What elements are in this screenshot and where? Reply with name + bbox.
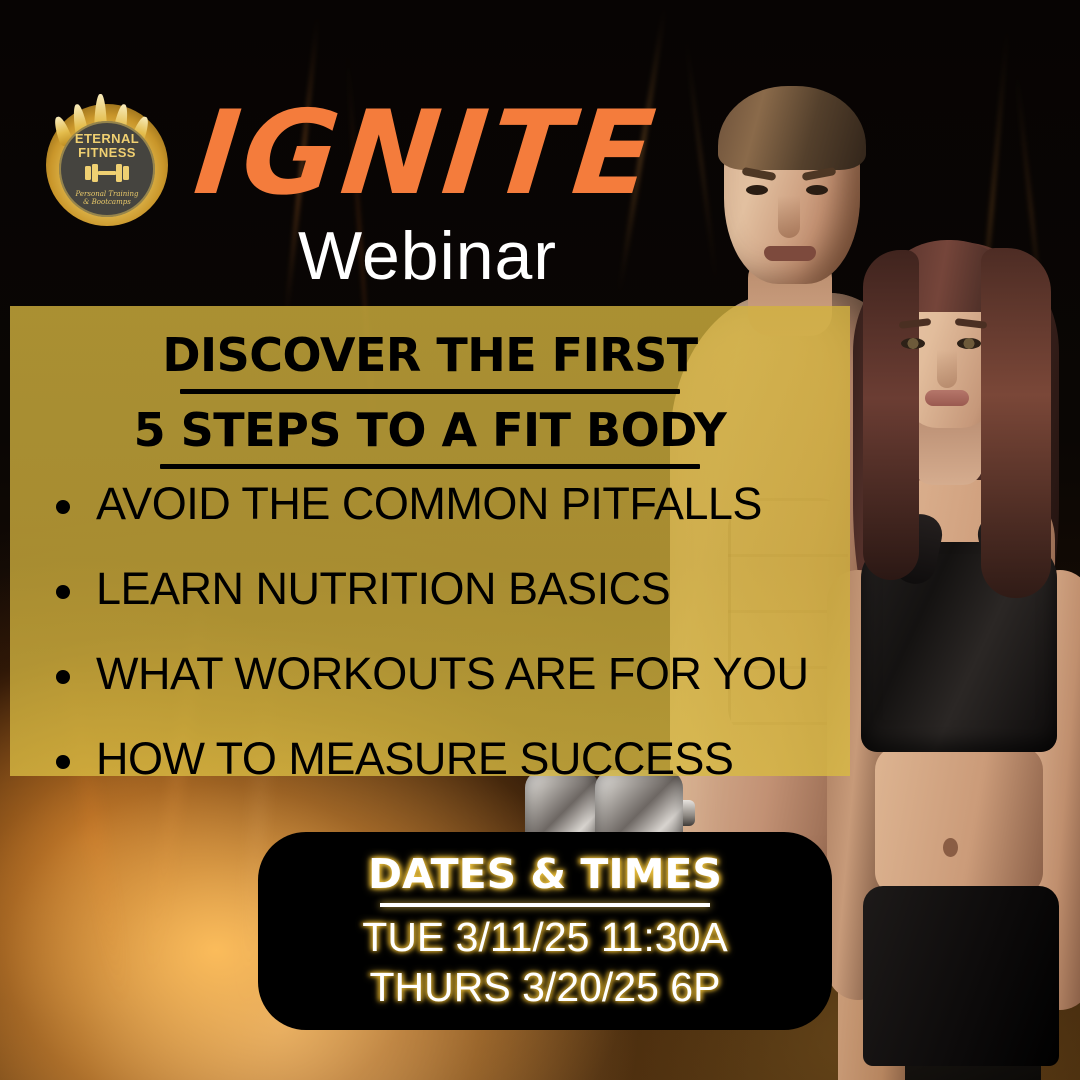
dates-and-times-panel: DATES & TIMES TUE 3/11/25 11:30A THURS 3… bbox=[258, 832, 832, 1030]
headline-underline bbox=[180, 389, 680, 394]
list-item: LEARN NUTRITION BASICS bbox=[44, 563, 840, 615]
dates-heading-underline bbox=[380, 903, 710, 907]
poster-canvas: ETERNAL FITNESS Personal Training & Boot… bbox=[0, 0, 1080, 1080]
session-date-1: TUE 3/11/25 11:30A bbox=[362, 912, 727, 962]
dumbbell-icon bbox=[84, 163, 130, 188]
session-date-2: THURS 3/20/25 6P bbox=[370, 962, 721, 1012]
logo-disc: ETERNAL FITNESS Personal Training & Boot… bbox=[59, 121, 155, 217]
headline-line-1: DISCOVER THE FIRST bbox=[10, 328, 850, 394]
list-item: WHAT WORKOUTS ARE FOR YOU bbox=[44, 648, 840, 700]
female-eye bbox=[901, 338, 925, 349]
female-model bbox=[835, 190, 1080, 1080]
female-hair-strand bbox=[981, 248, 1051, 598]
headline-line-2-text: 5 STEPS TO A FIT BODY bbox=[134, 403, 727, 457]
male-mouth bbox=[764, 246, 816, 261]
male-hair bbox=[718, 86, 866, 170]
headline-line-2: 5 STEPS TO A FIT BODY bbox=[10, 403, 850, 469]
eternal-fitness-logo[interactable]: ETERNAL FITNESS Personal Training & Boot… bbox=[46, 104, 168, 226]
female-midriff bbox=[875, 746, 1043, 896]
female-shorts bbox=[863, 886, 1059, 1066]
dates-heading: DATES & TIMES bbox=[368, 850, 722, 902]
list-item: HOW TO MEASURE SUCCESS bbox=[44, 733, 840, 785]
logo-brand-line1: ETERNAL bbox=[75, 132, 139, 146]
poster-subtitle: Webinar bbox=[298, 222, 557, 290]
logo-brand-line2: FITNESS bbox=[78, 146, 136, 160]
headline-line-1-text: DISCOVER THE FIRST bbox=[162, 328, 697, 382]
logo-tagline-line2: & Bootcamps bbox=[83, 198, 131, 206]
logo-tagline-line1: Personal Training bbox=[76, 190, 139, 198]
male-eye bbox=[746, 185, 768, 195]
headline-underline bbox=[160, 464, 700, 469]
male-eye bbox=[806, 185, 828, 195]
content-panel: DISCOVER THE FIRST 5 STEPS TO A FIT BODY… bbox=[10, 306, 850, 776]
female-hair-strand bbox=[863, 250, 919, 580]
female-nose bbox=[937, 350, 957, 388]
list-item: AVOID THE COMMON PITFALLS bbox=[44, 478, 840, 530]
female-navel bbox=[943, 838, 958, 857]
male-nose bbox=[778, 196, 800, 238]
female-eye bbox=[957, 338, 981, 349]
benefits-list: AVOID THE COMMON PITFALLS LEARN NUTRITIO… bbox=[44, 478, 840, 818]
poster-title: IGNITE bbox=[190, 96, 663, 212]
female-lips bbox=[925, 390, 969, 406]
